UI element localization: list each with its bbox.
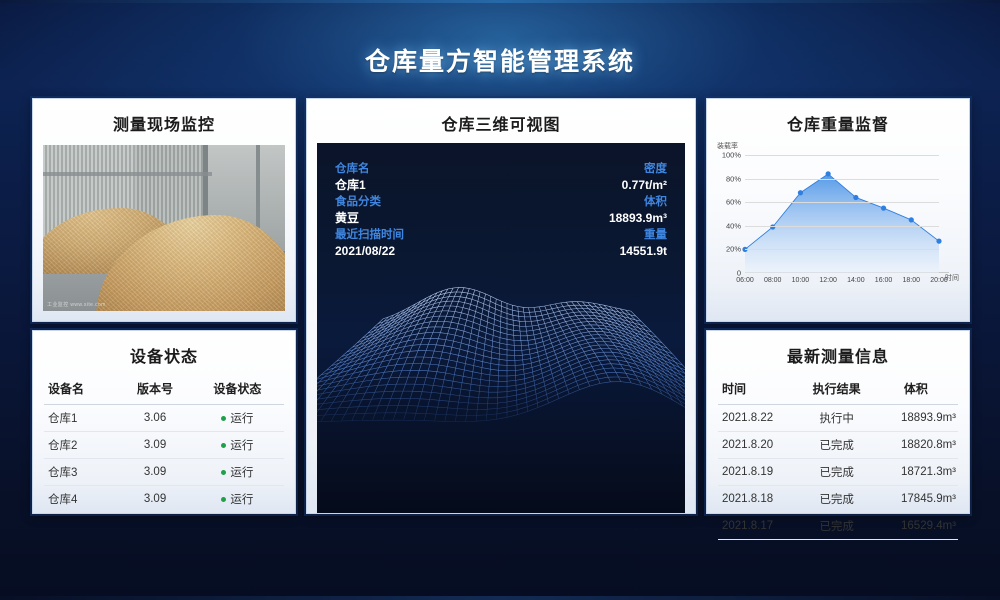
page-title: 仓库量方智能管理系统 [0,42,1000,78]
loading-rate-chart[interactable]: 装载率 时间 020%40%60%80%100%06:0008:0010:001… [715,143,961,303]
table-header-row: 时间 执行结果 体积 [718,375,958,405]
info-key-left: 仓库名 [335,161,370,177]
panel-site-monitoring: 测量现场监控 工业监控 www.site.com [32,98,296,322]
chart-data-point[interactable] [936,239,941,244]
chart-x-tick: 06:00 [736,277,754,284]
cell-volume: 17845.9m³ [874,486,958,513]
chart-data-point[interactable] [909,217,914,222]
table-row[interactable]: 仓库23.09运行 [44,432,284,459]
cell-result: 已完成 [800,432,874,459]
cell-device-name: 仓库1 [44,405,119,432]
cell-version: 3.09 [119,459,191,486]
device-status-table: 设备名 版本号 设备状态 仓库13.06运行仓库23.09运行仓库33.09运行… [44,375,284,513]
cell-time: 2021.8.19 [718,459,800,486]
info-key-row: 最近扫描时间重量 [335,227,667,243]
status-dot-icon [221,416,226,421]
chart-x-tick: 08:00 [764,277,782,284]
status-dot-icon [221,470,226,475]
cell-volume: 18820.8m³ [874,432,958,459]
cell-status: 运行 [191,405,284,432]
info-value-left: 仓库1 [335,177,366,194]
cell-device-name: 仓库2 [44,432,119,459]
column-header-time: 时间 [718,375,800,405]
info-key-right: 密度 [644,161,667,177]
point-cloud-mesh-icon [317,267,685,497]
info-key-row: 食品分类体积 [335,194,667,210]
chart-gridline [745,179,939,180]
cell-time: 2021.8.18 [718,486,800,513]
panel-3d-view: 仓库三维可视图 仓库名密度仓库10.77t/m²食品分类体积黄豆18893.9m… [306,98,696,514]
info-value-row: 2021/08/2214551.9t [335,243,667,260]
table-row[interactable]: 2021.8.20已完成18820.8m³ [718,432,958,459]
cell-status: 运行 [191,486,284,513]
cell-status: 运行 [191,459,284,486]
chart-x-tick: 14:00 [847,277,865,284]
camera-feed-image[interactable]: 工业监控 www.site.com [43,145,285,311]
info-value-right: 0.77t/m² [622,177,667,194]
panel-title-site-monitoring: 测量现场监控 [33,99,295,143]
table-row[interactable]: 仓库33.09运行 [44,459,284,486]
cell-device-name: 仓库4 [44,486,119,513]
warehouse-info-overlay: 仓库名密度仓库10.77t/m²食品分类体积黄豆18893.9m³最近扫描时间重… [317,151,685,272]
chart-data-point[interactable] [798,190,803,195]
status-dot-icon [221,443,226,448]
panel-title-latest-measurements: 最新测量信息 [707,331,969,375]
info-value-row: 仓库10.77t/m² [335,177,667,194]
chart-data-point[interactable] [853,195,858,200]
cell-version: 3.09 [119,432,191,459]
panel-title-device-status: 设备状态 [33,331,295,375]
status-dot-icon [221,497,226,502]
chart-data-point[interactable] [826,171,831,176]
chart-y-tick: 60% [726,198,741,207]
cell-device-name: 仓库3 [44,459,119,486]
chart-gridline [745,226,939,227]
column-header-result: 执行结果 [800,375,874,405]
panel-title-3d-view: 仓库三维可视图 [307,99,695,143]
info-value-left: 黄豆 [335,210,359,227]
chart-gridline [745,249,939,250]
chart-x-tick: 10:00 [792,277,810,284]
cell-result: 已完成 [800,513,874,540]
cell-version: 3.06 [119,405,191,432]
table-row[interactable]: 2021.8.18已完成17845.9m³ [718,486,958,513]
chart-plot-area: 020%40%60%80%100%06:0008:0010:0012:0014:… [745,155,939,273]
panel-weight-chart: 仓库重量监督 装载率 时间 020%40%60%80%100%06: [706,98,970,322]
cell-volume: 18893.9m³ [874,405,958,432]
info-key-right: 重量 [644,227,667,243]
cell-volume: 16529.4m³ [874,513,958,540]
chart-y-tick: 20% [726,245,741,254]
cell-result: 已完成 [800,459,874,486]
measurement-records-table: 时间 执行结果 体积 2021.8.22执行中18893.9m³2021.8.2… [718,375,958,540]
chart-x-tick: 20:00 [930,277,948,284]
support-beam-c [43,172,212,176]
cell-version: 3.09 [119,486,191,513]
cell-volume: 18721.3m³ [874,459,958,486]
info-key-left: 最近扫描时间 [335,227,404,243]
cell-time: 2021.8.22 [718,405,800,432]
column-header-device-name: 设备名 [44,375,119,405]
info-key-row: 仓库名密度 [335,161,667,177]
camera-watermark: 工业监控 www.site.com [47,301,106,308]
cell-result: 已完成 [800,486,874,513]
chart-data-points [745,155,939,273]
chart-gridline [745,202,939,203]
column-header-volume: 体积 [874,375,958,405]
table-row[interactable]: 仓库43.09运行 [44,486,284,513]
panel-latest-measurements: 最新测量信息 时间 执行结果 体积 2021.8.22执行中18893.9m³2… [706,330,970,514]
info-value-row: 黄豆18893.9m³ [335,210,667,227]
chart-x-tick: 12:00 [819,277,837,284]
cell-status: 运行 [191,432,284,459]
chart-y-tick: 100% [722,151,741,160]
info-value-right: 18893.9m³ [609,210,667,227]
warehouse-3d-canvas[interactable]: 仓库名密度仓库10.77t/m²食品分类体积黄豆18893.9m³最近扫描时间重… [317,143,685,513]
table-header-row: 设备名 版本号 设备状态 [44,375,284,405]
column-header-status: 设备状态 [191,375,284,405]
info-key-left: 食品分类 [335,194,381,210]
column-header-version: 版本号 [119,375,191,405]
chart-data-point[interactable] [881,206,886,211]
chart-gridline [745,155,939,156]
chart-x-tick: 16:00 [875,277,893,284]
table-row[interactable]: 2021.8.17已完成16529.4m³ [718,513,958,540]
info-value-left: 2021/08/22 [335,243,395,260]
panel-title-weight-chart: 仓库重量监督 [707,99,969,143]
cell-result: 执行中 [800,405,874,432]
panel-device-status: 设备状态 设备名 版本号 设备状态 仓库13.06运行仓库23.09运行仓库33… [32,330,296,514]
table-row[interactable]: 仓库13.06运行 [44,405,284,432]
cell-time: 2021.8.20 [718,432,800,459]
chart-y-tick: 40% [726,221,741,230]
chart-x-tick: 18:00 [903,277,921,284]
info-value-right: 14551.9t [620,243,667,260]
table-row[interactable]: 2021.8.19已完成18721.3m³ [718,459,958,486]
dashboard-root: 仓库量方智能管理系统 测量现场监控 工业监控 www.site.com 设备状态… [0,0,1000,600]
cell-time: 2021.8.17 [718,513,800,540]
chart-y-tick: 80% [726,174,741,183]
table-row[interactable]: 2021.8.22执行中18893.9m³ [718,405,958,432]
chart-y-axis-label: 装载率 [717,141,738,151]
info-key-right: 体积 [644,194,667,210]
